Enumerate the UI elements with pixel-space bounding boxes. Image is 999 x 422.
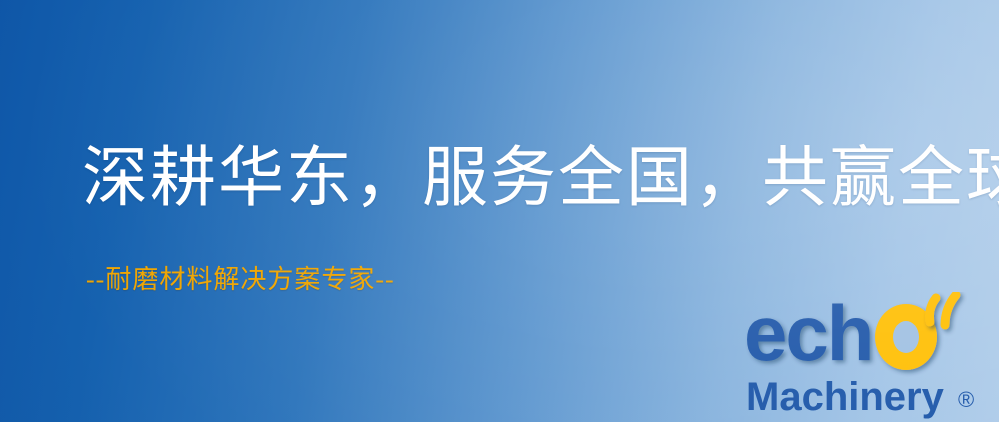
banner-headline: 深耕华东，服务全国，共赢全球 bbox=[82, 146, 999, 212]
logo-tagline-group: Machinery ® bbox=[746, 375, 974, 419]
logo-wordmark-ech: ech bbox=[744, 292, 872, 377]
logo-text-ech: ech bbox=[744, 292, 872, 377]
logo-text-machinery: Machinery bbox=[746, 375, 945, 419]
hero-banner: 深耕华东，服务全国，共赢全球 --耐磨材料解决方案专家-- bbox=[0, 0, 999, 422]
logo-signal-waves-icon bbox=[930, 295, 956, 325]
logo-trademark-symbol: ® bbox=[958, 387, 974, 412]
logo-graphic: ech Machinery ® bbox=[744, 292, 999, 422]
echo-machinery-logo: ech Machinery ® bbox=[744, 292, 999, 422]
banner-subtitle: --耐磨材料解决方案专家-- bbox=[86, 266, 395, 295]
